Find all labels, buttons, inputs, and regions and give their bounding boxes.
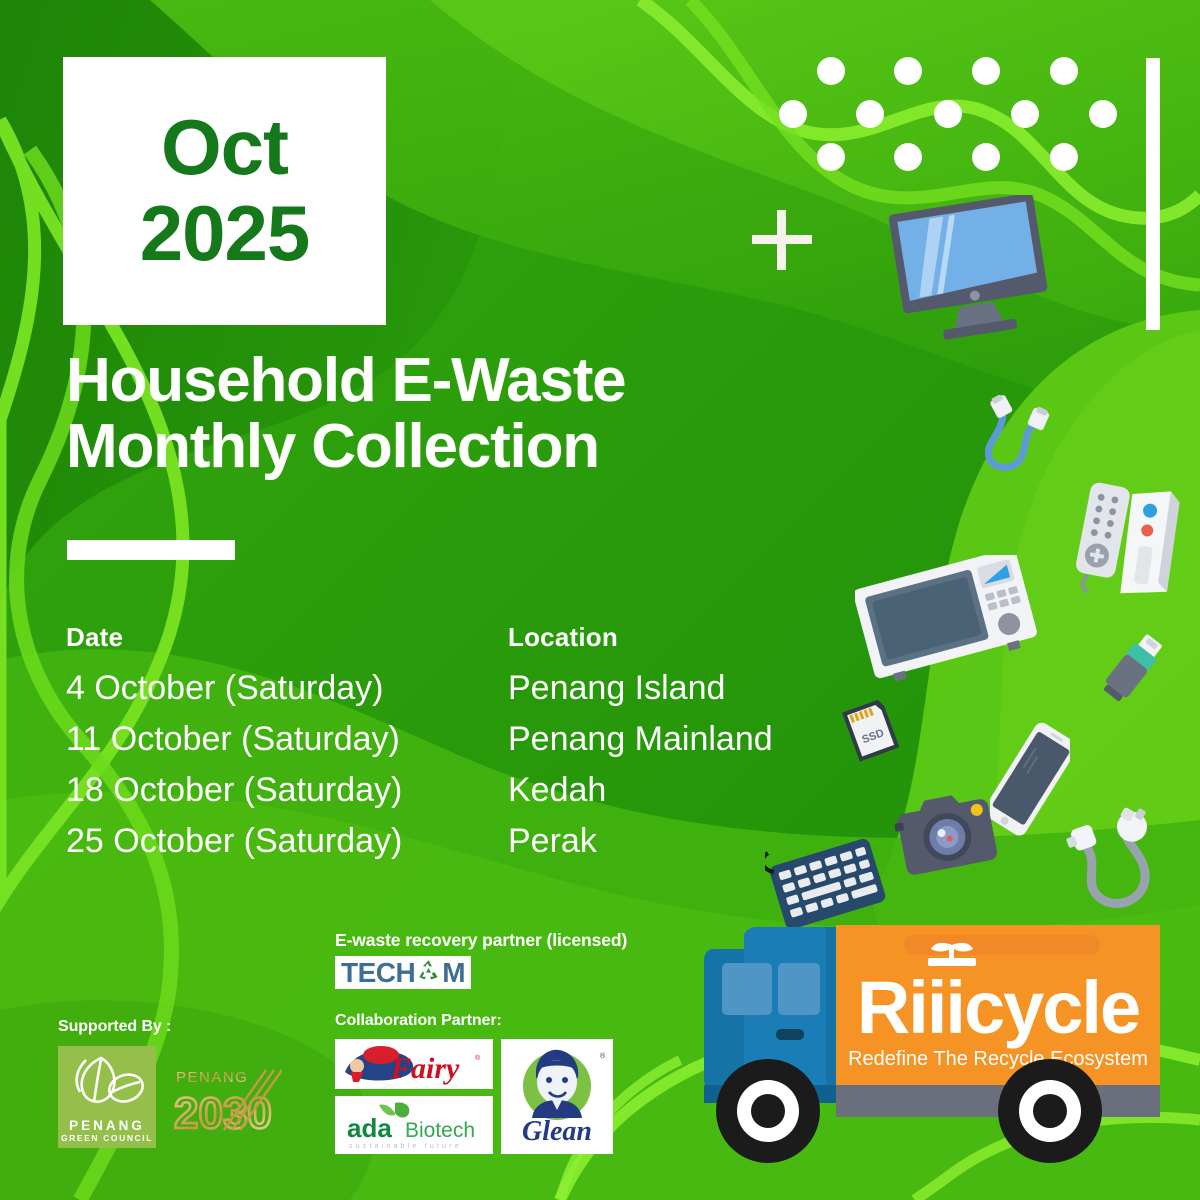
recycle-icon <box>416 958 441 988</box>
truck-tagline: Redefine The Recycle Ecosystem <box>848 1048 1148 1070</box>
penang-2030-word: PENANG <box>176 1069 248 1086</box>
recovery-partner-block: E-waste recovery partner (licensed) TECH… <box>335 930 627 989</box>
pgc-name-line1: PENANG <box>69 1118 145 1133</box>
ethernet-cable-icon <box>975 395 1070 480</box>
cell-date: 18 October (Saturday) <box>66 771 508 810</box>
collaboration-partner-block: Collaboration Partner: Fairy ® <box>335 1012 613 1154</box>
power-cable-icon <box>1055 805 1170 915</box>
badge-month: Oct <box>161 108 288 188</box>
usb-drive-icon <box>1100 630 1170 710</box>
cell-date: 25 October (Saturday) <box>66 822 508 861</box>
fairy-registered-mark: ® <box>475 1054 481 1062</box>
truck-wheel-rear <box>998 1059 1102 1163</box>
recycling-truck: Riiicycle Redefine The Recycle Ecosystem <box>700 925 1200 1200</box>
page-title: Household E-Waste Monthly Collection <box>66 348 886 479</box>
column-header-location: Location <box>508 622 846 653</box>
microwave-icon <box>855 555 1040 685</box>
table-header-row: Date Location <box>66 622 846 653</box>
penang-2030-logo: PENANG 2030 <box>170 1058 282 1136</box>
camera-icon <box>895 790 1000 880</box>
schedule-table: Date Location 4 October (Saturday) Penan… <box>66 622 846 873</box>
date-badge: Oct 2025 <box>63 57 386 325</box>
truck-brand-name: Riiicycle <box>857 966 1139 1049</box>
table-row: 4 October (Saturday) Penang Island <box>66 669 846 720</box>
title-line-1: Household E-Waste <box>66 348 886 414</box>
cell-date: 4 October (Saturday) <box>66 669 508 708</box>
monitor-icon <box>885 195 1055 350</box>
techom-text-left: TECH <box>341 959 415 987</box>
fairy-name: Fairy <box>390 1052 460 1085</box>
cell-date: 11 October (Saturday) <box>66 720 508 759</box>
leaf-icon <box>58 1052 156 1114</box>
glean-logo: Glean ® <box>501 1039 613 1154</box>
table-row: 25 October (Saturday) Perak <box>66 822 846 873</box>
cell-location: Penang Mainland <box>508 720 846 759</box>
cell-location: Perak <box>508 822 846 861</box>
collaboration-partner-label: Collaboration Partner: <box>335 1012 613 1030</box>
penang-green-council-logo: PENANG GREEN COUNCIL <box>58 1046 156 1148</box>
cell-location: Kedah <box>508 771 846 810</box>
supported-by-logos: PENANG GREEN COUNCIL PENANG 2030 <box>58 1046 282 1148</box>
recovery-partner-label: E-waste recovery partner (licensed) <box>335 930 627 951</box>
cell-location: Penang Island <box>508 669 846 708</box>
ada-tagline: sustainable future <box>349 1143 462 1150</box>
badge-year: 2025 <box>140 194 310 274</box>
table-row: 11 October (Saturday) Penang Mainland <box>66 720 846 771</box>
glean-name: Glean <box>522 1116 592 1147</box>
game-console-icon <box>1115 485 1185 610</box>
glean-registered-mark: ® <box>600 1052 606 1060</box>
vertical-bar-decoration <box>1146 58 1160 330</box>
title-underline-rule <box>67 540 235 560</box>
collaboration-logos-left: Fairy ® ada Biotech sustainable future <box>335 1039 493 1154</box>
ada-biotech-logo: ada Biotech sustainable future <box>335 1096 493 1154</box>
ada-suffix: Biotech <box>405 1119 475 1142</box>
poster-canvas: SSD <box>0 0 1200 1200</box>
column-header-date: Date <box>66 622 508 653</box>
collaboration-logos: Fairy ® ada Biotech sustainable future <box>335 1039 613 1154</box>
supported-by-label: Supported By : <box>58 1018 282 1036</box>
title-line-2: Monthly Collection <box>66 414 886 480</box>
techom-logo: TECH M <box>335 956 471 989</box>
ada-name: ada <box>347 1113 392 1143</box>
table-row: 18 October (Saturday) Kedah <box>66 771 846 822</box>
memory-card-icon: SSD <box>838 698 904 764</box>
truck-wheel-front <box>716 1059 820 1163</box>
supported-by-block: Supported By : PENANG GREEN CO <box>58 1018 282 1148</box>
pgc-name-line2: GREEN COUNCIL <box>61 1133 153 1143</box>
techom-text-right: M <box>442 959 465 987</box>
fairy-logo: Fairy ® <box>335 1039 493 1089</box>
